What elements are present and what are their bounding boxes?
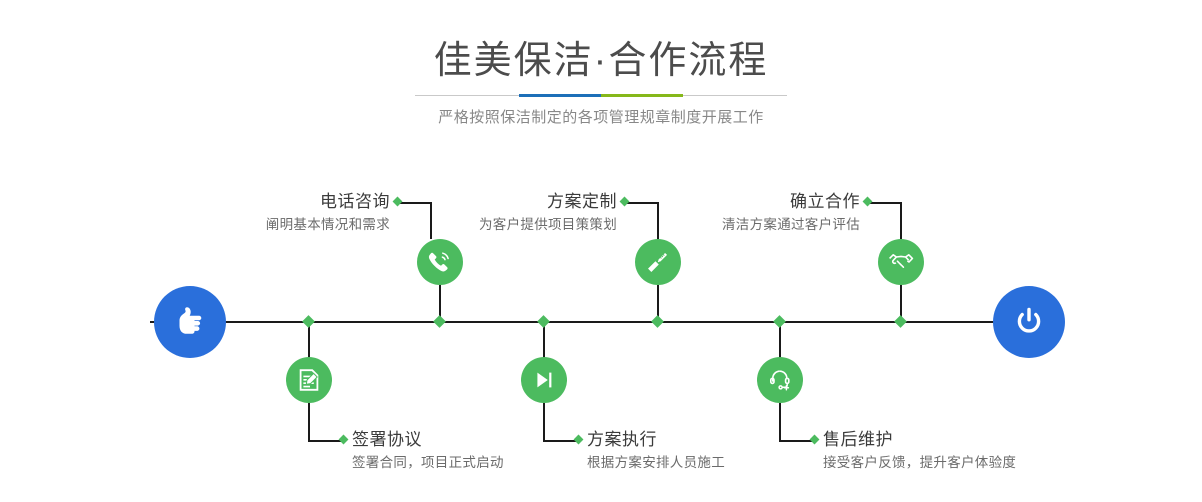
axis-marker-4 [537, 315, 550, 328]
step-node-5[interactable] [878, 239, 924, 285]
document-edit-icon [295, 366, 323, 394]
axis-marker-1 [433, 315, 446, 328]
axis-marker-2 [302, 315, 315, 328]
step-node-1[interactable] [417, 239, 463, 285]
step-title-1: 电话咨询 [160, 190, 390, 214]
process-flow-infographic: 佳美保洁·合作流程 严格按照保洁制定的各项管理规章制度开展工作 [0, 0, 1202, 502]
label-connector-h-5 [869, 202, 901, 204]
pointing-hand-icon [170, 302, 210, 342]
phone-call-icon [426, 248, 454, 276]
axis-marker-3 [651, 315, 664, 328]
title-divider [415, 94, 787, 97]
handshake-icon [887, 248, 915, 276]
page-title: 佳美保洁·合作流程 [0, 38, 1202, 84]
step-label-6: 售后维护 接受客户反馈，提升客户体验度 [823, 428, 1153, 474]
label-connector-v-5 [900, 202, 902, 239]
step-label-1: 电话咨询 阐明基本情况和需求 [160, 190, 390, 236]
step-node-2[interactable] [286, 357, 332, 403]
timeline-axis [150, 321, 1052, 323]
label-connector-v-2 [308, 403, 310, 440]
pencil-ruler-icon [644, 248, 672, 276]
page-subtitle: 严格按照保洁制定的各项管理规章制度开展工作 [0, 106, 1202, 130]
step-node-4[interactable] [521, 357, 567, 403]
step-title-3: 方案定制 [387, 190, 617, 214]
play-execute-icon [530, 366, 558, 394]
axis-marker-6 [773, 315, 786, 328]
label-marker-3 [620, 197, 630, 207]
headset-support-icon [766, 366, 794, 394]
step-desc-6: 接受客户反馈，提升客户体验度 [823, 452, 1153, 474]
divider-segment-green [601, 94, 683, 97]
divider-segment-blue [519, 94, 601, 97]
step-node-3[interactable] [635, 239, 681, 285]
axis-marker-5 [894, 315, 907, 328]
label-connector-h-2 [308, 440, 342, 442]
step-desc-5: 清洁方案通过客户评估 [630, 214, 860, 236]
label-marker-5 [863, 197, 873, 207]
label-marker-2 [339, 435, 349, 445]
label-connector-h-4 [543, 440, 577, 442]
step-title-5: 确立合作 [630, 190, 860, 214]
step-node-6[interactable] [757, 357, 803, 403]
step-desc-3: 为客户提供项目策策划 [387, 214, 617, 236]
start-node[interactable] [154, 286, 226, 358]
step-label-5: 确立合作 清洁方案通过客户评估 [630, 190, 860, 236]
label-connector-v-4 [543, 403, 545, 440]
step-label-3: 方案定制 为客户提供项目策策划 [387, 190, 617, 236]
step-title-6: 售后维护 [823, 428, 1153, 452]
end-node[interactable] [993, 286, 1065, 358]
label-connector-h-6 [779, 440, 813, 442]
step-desc-1: 阐明基本情况和需求 [160, 214, 390, 236]
power-icon [1009, 302, 1049, 342]
label-connector-v-6 [779, 403, 781, 440]
